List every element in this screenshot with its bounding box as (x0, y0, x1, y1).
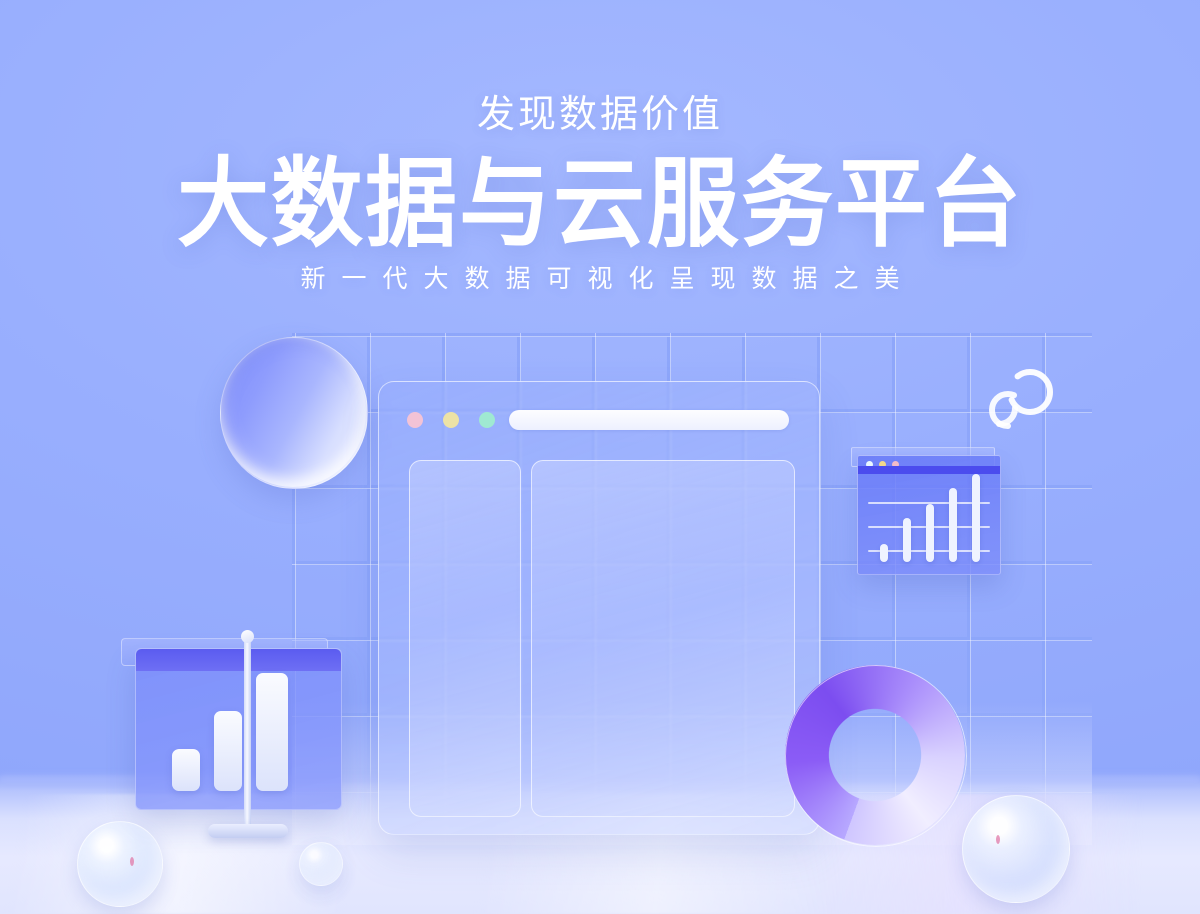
glass-sphere-small (299, 842, 343, 886)
glass-disc-rim (220, 337, 366, 487)
chart-window-header (858, 466, 1000, 474)
maximize-dot-icon[interactable] (479, 412, 495, 428)
browser-title-bar (379, 382, 819, 454)
bar-chart-bar (256, 673, 288, 791)
browser-window-mockup[interactable] (378, 381, 820, 835)
hero-text-block: 发现数据价值 大数据与云服务平台 新一代大数据可视化呈现数据之美 (0, 0, 1200, 292)
data-chart-window (857, 455, 1001, 575)
sphere-highlight (996, 835, 1000, 844)
bar-chart-card (135, 648, 342, 810)
chart-bar (949, 488, 957, 562)
stand-pole-cap (241, 630, 254, 643)
chart-bar (972, 474, 980, 562)
hero-banner: 发现数据价值 大数据与云服务平台 新一代大数据可视化呈现数据之美 (0, 0, 1200, 914)
sphere-highlight (130, 857, 134, 866)
close-dot-icon[interactable] (407, 412, 423, 428)
bar-chart-card-header (136, 649, 341, 671)
sidebar-panel (409, 460, 521, 817)
bar-chart-bar (214, 711, 242, 791)
chart-bar (880, 544, 888, 562)
hero-eyebrow: 发现数据价值 (0, 0, 1200, 134)
cloud-icon (975, 362, 1065, 434)
address-bar[interactable] (509, 410, 789, 430)
content-panel (531, 460, 795, 817)
chart-bar (903, 518, 911, 562)
stand-pole (244, 636, 251, 828)
bar-chart-bar (172, 749, 200, 791)
chart-bar (926, 504, 934, 562)
glass-sphere-left (77, 821, 163, 907)
glass-sphere-right (962, 795, 1070, 903)
hero-headline: 大数据与云服务平台 (0, 130, 1200, 256)
torus-ring-outline (785, 665, 967, 847)
stand-base (208, 824, 288, 838)
minimize-dot-icon[interactable] (443, 412, 459, 428)
